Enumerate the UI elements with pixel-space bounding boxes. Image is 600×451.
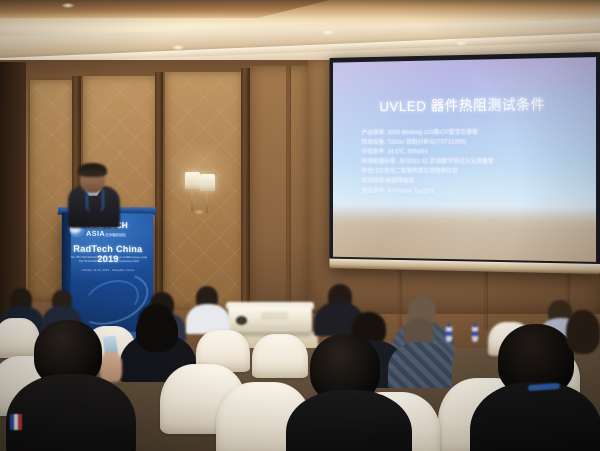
- downlight-icon: [62, 3, 74, 8]
- projector-vent: [262, 312, 288, 320]
- wall-panel-seam: [398, 270, 402, 330]
- wall-panel-seam: [241, 68, 250, 306]
- sconce-arm: [191, 189, 193, 211]
- conference-room-photo: UVLED 器件热阻测试条件 产品规格: 3535 Molding 120度IC…: [0, 0, 600, 451]
- event-subtitle: The 15th International Conference & Expo…: [67, 256, 151, 264]
- chair: [252, 334, 308, 378]
- bottle-cap: [473, 324, 477, 327]
- slide-bullet: 外光LED发光二极管的真实热阻和压状: [362, 167, 583, 177]
- slide-title: UVLED 器件热阻测试条件: [333, 93, 596, 117]
- audience-head: [566, 310, 600, 354]
- sconce-shade-left-icon: [185, 172, 200, 189]
- speaker-lanyard: [86, 190, 104, 212]
- projection-screen: UVLED 器件热阻测试条件 产品规格: 3535 Molding 120度IC…: [329, 52, 600, 274]
- slide-bullet: 检测项目:结温降曲用: [362, 177, 583, 188]
- wall-panel-seam: [286, 66, 291, 310]
- projector-lens-icon: [236, 316, 247, 325]
- hand: [100, 352, 122, 382]
- downlight-icon: [172, 45, 184, 50]
- badge-ribbon: [10, 414, 22, 430]
- slide-bullet: 环境条件: 24.5℃, 50%RH: [362, 147, 583, 157]
- wall-panel-seam: [155, 72, 163, 304]
- logo-asia-text: ASIA: [86, 229, 105, 238]
- audience-shoulders: [388, 342, 452, 388]
- wall-panel-seam: [484, 272, 488, 330]
- sconce-base: [193, 209, 205, 215]
- logo-asia-cn: 亚洲辐射固化: [105, 233, 126, 237]
- logo-line-2: ASIA亚洲辐射固化: [86, 230, 128, 238]
- downlight-icon: [322, 30, 334, 35]
- downlight-icon: [455, 41, 467, 46]
- bottle-cap: [447, 324, 451, 327]
- slide-bullet-list: 产品规格: 3535 Molding 120度ICP蓝宝石基板 检测设备: T3…: [362, 127, 583, 197]
- water-bottle: [446, 326, 452, 342]
- water-bottle: [472, 326, 478, 342]
- sconce-arm: [206, 191, 208, 213]
- event-date: October 21-23, 2019 · Shanghai, China: [62, 269, 154, 272]
- event-subtitle-line-2: The UV And Eb Curing Technology Conferen…: [67, 260, 151, 264]
- slide-bullet: 检测设备: T3Ster 热阻分析仪(TST12266): [362, 137, 583, 148]
- speaker-hair: [78, 163, 107, 177]
- slide-lower-band: [333, 217, 596, 262]
- audience-shoulders: [6, 374, 136, 451]
- audience-head: [136, 310, 178, 352]
- slide-bullet: 检测依据标准: JESD51-51 实测数学测试方法测量紫: [362, 157, 583, 167]
- slide-surface: UVLED 器件热阻测试条件 产品规格: 3535 Molding 120度IC…: [333, 57, 596, 262]
- slide-bullet: 测试条件: If=700mA Ta=25℃: [362, 186, 583, 197]
- sconce-shade-right-icon: [200, 174, 215, 191]
- wall-pilaster: [250, 66, 308, 310]
